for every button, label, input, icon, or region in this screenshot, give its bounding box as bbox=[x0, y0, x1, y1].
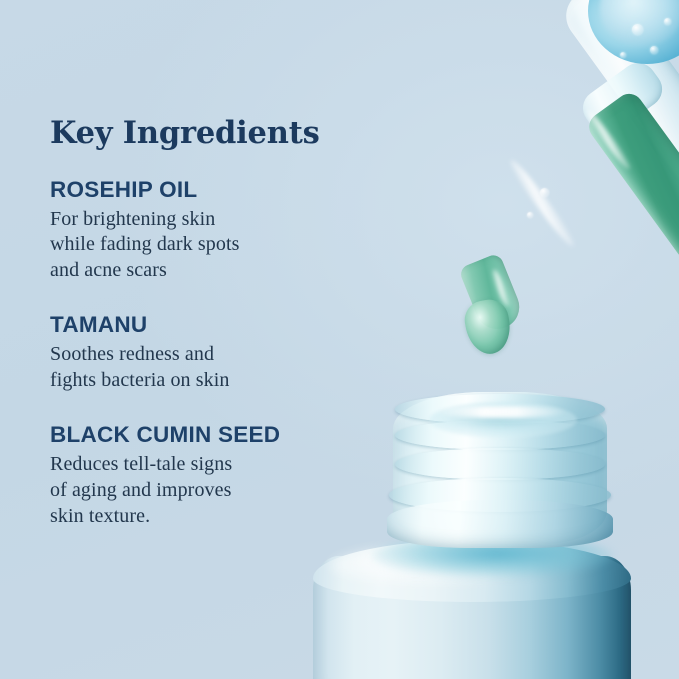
product-ingredients-graphic: Key Ingredients ROSEHIP OIL For brighten… bbox=[0, 0, 679, 679]
ingredient-rosehip-oil: ROSEHIP OIL For brightening skin while f… bbox=[50, 177, 370, 285]
description-line: Soothes redness and bbox=[50, 342, 370, 368]
ingredient-tamanu: TAMANU Soothes redness and fights bacter… bbox=[50, 312, 370, 394]
ingredient-description: For brightening skin while fading dark s… bbox=[50, 207, 370, 284]
bottle-rim-highlight bbox=[437, 406, 567, 418]
bottle-neck bbox=[385, 378, 615, 558]
air-bubble bbox=[650, 46, 658, 54]
ingredient-name: BLACK CUMIN SEED bbox=[50, 422, 370, 447]
description-line: For brightening skin bbox=[50, 207, 370, 233]
ingredient-black-cumin-seed: BLACK CUMIN SEED Reduces tell-tale signs… bbox=[50, 422, 370, 530]
air-bubble bbox=[527, 212, 533, 218]
description-line: of aging and improves bbox=[50, 478, 370, 504]
page-title: Key Ingredients bbox=[50, 118, 370, 149]
air-bubble bbox=[632, 24, 643, 35]
ingredient-description: Soothes redness and fights bacteria on s… bbox=[50, 342, 370, 394]
description-line: and acne scars bbox=[50, 258, 370, 284]
description-line: Reduces tell-tale signs bbox=[50, 452, 370, 478]
description-line: fights bacteria on skin bbox=[50, 368, 370, 394]
air-bubble bbox=[540, 188, 549, 197]
description-line: skin texture. bbox=[50, 504, 370, 530]
bottle-thread-ring bbox=[395, 448, 605, 480]
ingredient-name: ROSEHIP OIL bbox=[50, 177, 370, 202]
ingredient-description: Reduces tell-tale signs of aging and imp… bbox=[50, 452, 370, 529]
description-line: while fading dark spots bbox=[50, 232, 370, 258]
air-bubble bbox=[664, 18, 671, 25]
ingredient-name: TAMANU bbox=[50, 312, 370, 337]
air-bubble bbox=[620, 52, 626, 58]
bottle-neck-collar bbox=[387, 500, 613, 548]
ingredients-text-panel: Key Ingredients ROSEHIP OIL For brighten… bbox=[50, 118, 370, 529]
